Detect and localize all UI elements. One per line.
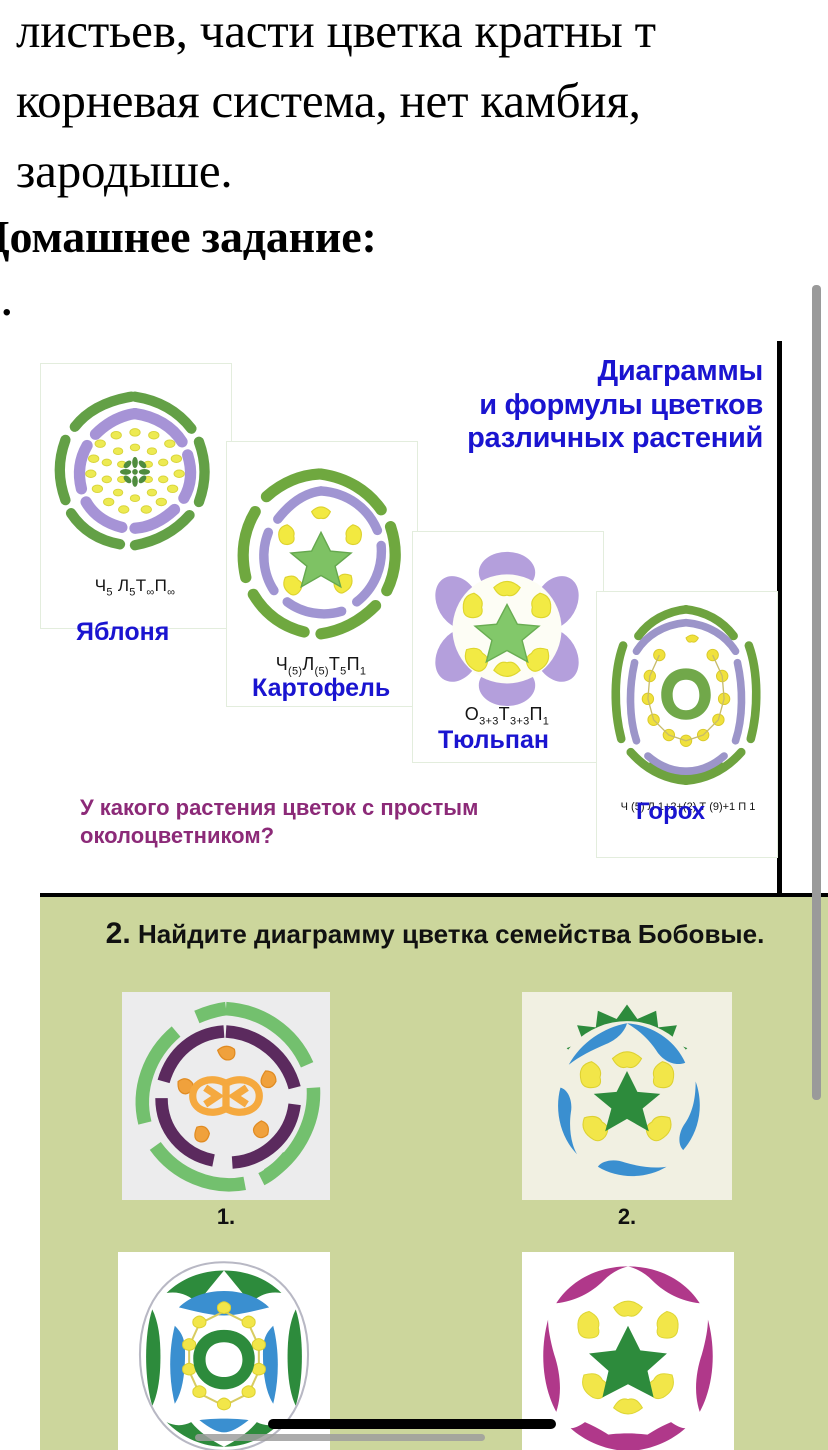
option-2-thumbnail[interactable] bbox=[522, 992, 732, 1200]
ovary-ring bbox=[661, 668, 711, 719]
apple-flower-diagram bbox=[41, 370, 229, 570]
lesson-text-line-1: листьев, части цветка кратны т bbox=[16, 6, 656, 55]
option-2-label: 2. bbox=[522, 1204, 732, 1230]
slide2-question-number: 2. bbox=[106, 917, 131, 950]
pea-flower-diagram bbox=[597, 596, 775, 796]
option-1-label: 1. bbox=[122, 1204, 330, 1230]
slide-title: Диаграммы и формулы цветков различных ра… bbox=[403, 355, 763, 456]
potato-flower-diagram bbox=[227, 448, 415, 658]
tulip-flower-formula: О3+3Т3+3П1 bbox=[412, 704, 602, 728]
horizontal-scrollbar[interactable] bbox=[195, 1434, 485, 1441]
slide-title-line-1: Диаграммы bbox=[403, 355, 763, 389]
slide2-question: 2. Найдите диаграмму цветка семейства Бо… bbox=[90, 915, 780, 953]
plant-name-tulip: Тюльпан bbox=[438, 726, 549, 755]
lesson-text-line-2: корневая система, нет камбия, bbox=[16, 76, 641, 125]
tulip-flower-diagram bbox=[413, 538, 601, 718]
lesson-text-line-3: зародыше. bbox=[16, 146, 232, 195]
plant-name-pea: Горох bbox=[636, 798, 705, 826]
apple-flower-formula: Ч5 Л5Т∞П∞ bbox=[40, 576, 230, 598]
slide1-question: У какого растения цветок с простым около… bbox=[80, 794, 540, 850]
slide-title-line-2: и формулы цветков bbox=[403, 389, 763, 423]
slide-title-line-3: различных растений bbox=[403, 422, 763, 456]
flower-diagram-option-2 bbox=[522, 992, 732, 1200]
plant-name-apple: Яблоня bbox=[76, 618, 169, 647]
home-indicator[interactable] bbox=[268, 1419, 556, 1429]
homework-heading: Домашнее задание: bbox=[0, 214, 377, 260]
homework-item-number: 1. bbox=[0, 282, 12, 322]
page-root: листьев, части цветка кратны т корневая … bbox=[0, 0, 828, 1450]
option-2[interactable]: 2. bbox=[522, 992, 732, 1200]
plant-name-potato: Картофель bbox=[252, 674, 390, 703]
slide-flower-diagrams[interactable]: Диаграммы и формулы цветков различных ра… bbox=[40, 341, 782, 893]
vertical-scrollbar[interactable] bbox=[812, 285, 821, 1100]
slide2-question-text: Найдите диаграмму цветка семейства Бобов… bbox=[138, 919, 764, 949]
lesson-text-block: листьев, части цветка кратны т корневая … bbox=[0, 0, 828, 300]
option-1-thumbnail[interactable] bbox=[122, 992, 330, 1200]
flower-diagram-option-1 bbox=[122, 992, 330, 1200]
slide-legume-question[interactable]: 2. Найдите диаграмму цветка семейства Бо… bbox=[40, 893, 828, 1450]
option-1[interactable]: 1. bbox=[122, 992, 330, 1200]
